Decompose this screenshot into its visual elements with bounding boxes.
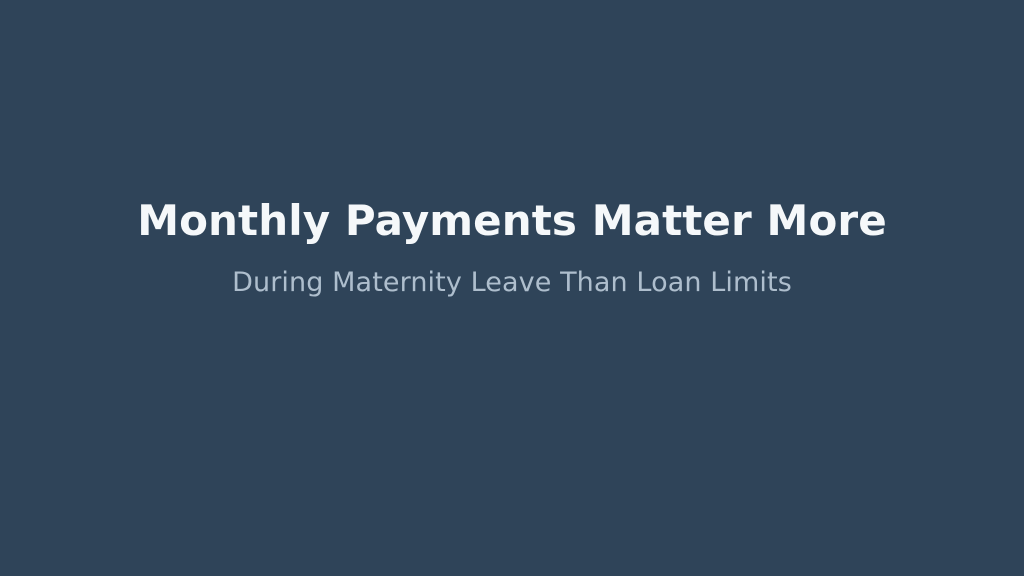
- slide-title: Monthly Payments Matter More: [137, 200, 887, 242]
- slide-canvas: Monthly Payments Matter More During Mate…: [0, 0, 1024, 576]
- title-block: Monthly Payments Matter More During Mate…: [0, 0, 1024, 296]
- slide-subtitle: During Maternity Leave Than Loan Limits: [232, 269, 792, 296]
